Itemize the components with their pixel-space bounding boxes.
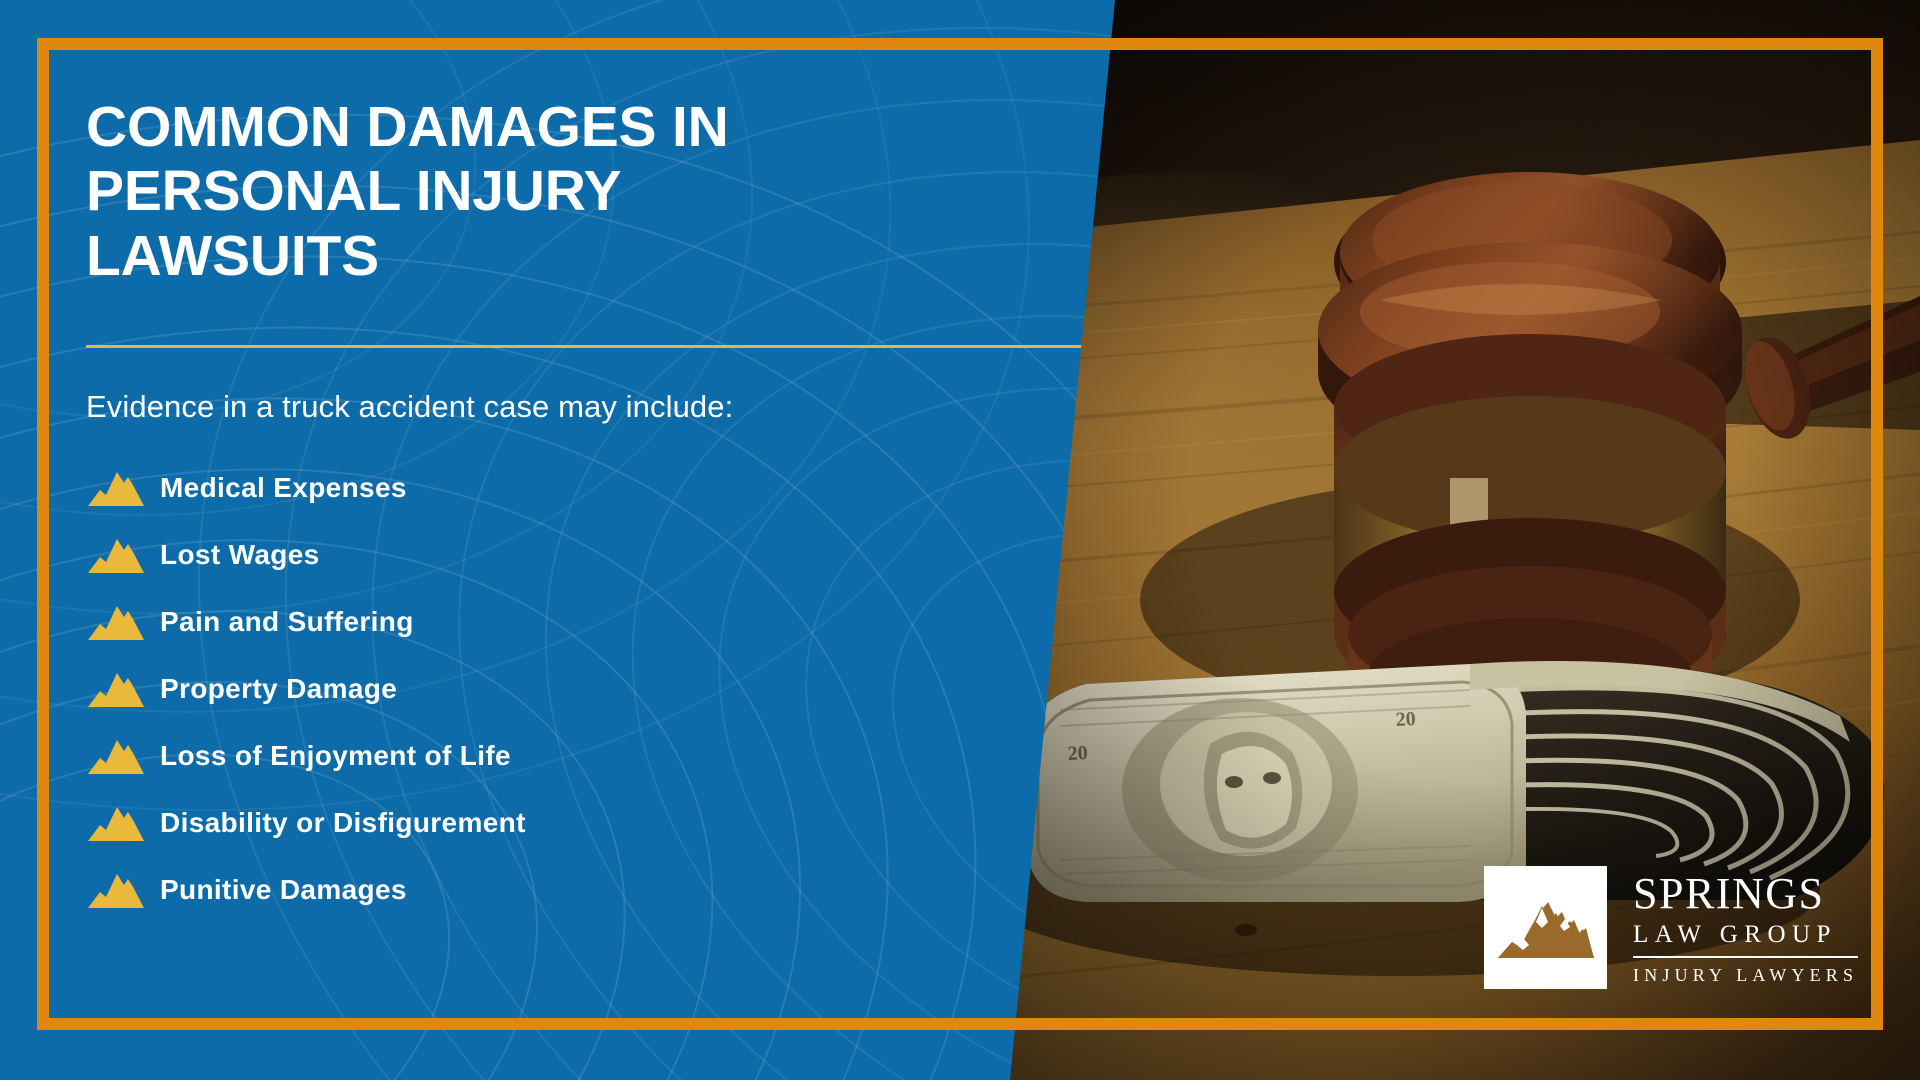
logo-name: SPRINGS: [1633, 872, 1858, 916]
list-item: Disability or Disfigurement: [86, 790, 966, 857]
gold-divider: [86, 345, 1086, 348]
mountain-bullet-icon: [86, 870, 146, 910]
mountain-bullet-icon: [86, 669, 146, 709]
panel-content: COMMON DAMAGES IN PERSONAL INJURY LAWSUI…: [86, 95, 966, 924]
list-item-label: Loss of Enjoyment of Life: [160, 742, 511, 770]
intro-text: Evidence in a truck accident case may in…: [86, 388, 966, 427]
list-item: Punitive Damages: [86, 857, 966, 924]
list-item-label: Disability or Disfigurement: [160, 809, 526, 837]
list-item: Property Damage: [86, 656, 966, 723]
page-title: COMMON DAMAGES IN PERSONAL INJURY LAWSUI…: [86, 95, 916, 288]
mountain-icon: [1496, 892, 1596, 964]
logo-mountain-mark: [1484, 866, 1607, 989]
logo-rule: [1633, 956, 1858, 958]
list-item-label: Lost Wages: [160, 541, 320, 569]
list-item: Pain and Suffering: [86, 589, 966, 656]
list-item-label: Pain and Suffering: [160, 608, 414, 636]
border-frame-top: [37, 38, 1883, 50]
mountain-bullet-icon: [86, 602, 146, 642]
list-item: Medical Expenses: [86, 455, 966, 522]
list-item-label: Property Damage: [160, 675, 397, 703]
mountain-bullet-icon: [86, 535, 146, 575]
list-item-label: Punitive Damages: [160, 876, 407, 904]
logo-wordmark: SPRINGS LAW GROUP INJURY LAWYERS: [1633, 872, 1858, 984]
infographic-canvas: 20 20: [0, 0, 1920, 1080]
border-frame-left: [37, 38, 49, 1030]
list-item: Loss of Enjoyment of Life: [86, 723, 966, 790]
border-frame-right: [1871, 38, 1883, 1030]
blue-content-panel: COMMON DAMAGES IN PERSONAL INJURY LAWSUI…: [0, 0, 1115, 1080]
mountain-bullet-icon: [86, 803, 146, 843]
border-frame-bottom: [37, 1018, 1883, 1030]
list-item: Lost Wages: [86, 522, 966, 589]
springs-law-group-logo: SPRINGS LAW GROUP INJURY LAWYERS: [1484, 866, 1858, 989]
logo-tagline: INJURY LAWYERS: [1633, 966, 1858, 984]
logo-subtitle: LAW GROUP: [1633, 922, 1858, 947]
damages-list: Medical Expenses Lost Wages Pain and Suf…: [86, 455, 966, 924]
mountain-bullet-icon: [86, 736, 146, 776]
list-item-label: Medical Expenses: [160, 474, 407, 502]
mountain-bullet-icon: [86, 468, 146, 508]
